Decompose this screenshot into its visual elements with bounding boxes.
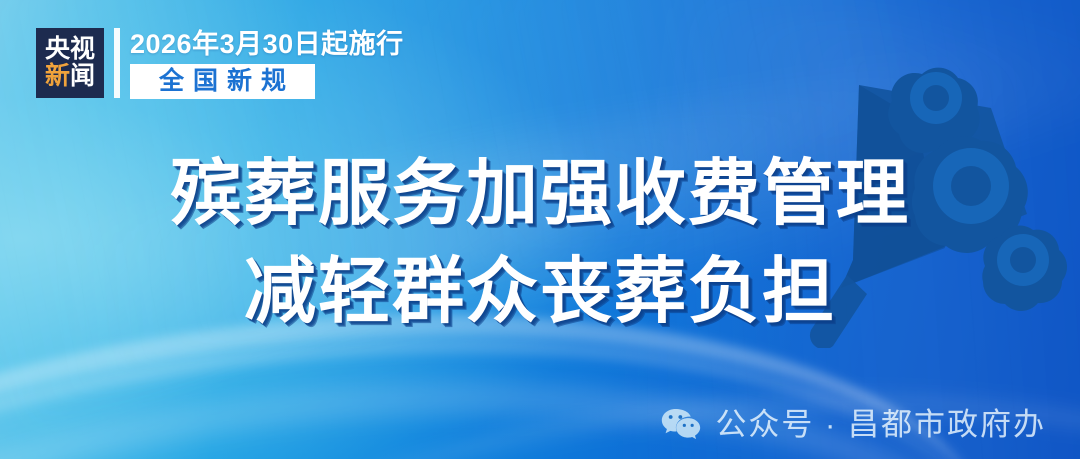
cctv-logo-line1: 央视: [45, 37, 95, 62]
flower-bottom-right: [982, 226, 1067, 311]
main-title-line-1: 殡葬服务加强收费管理: [170, 148, 910, 240]
effective-date-text: 2026年3月30日起施行: [130, 28, 404, 60]
cctv-news-logo: 央视 新 闻: [36, 28, 104, 98]
light-streak-top-right: [366, 0, 1080, 288]
main-title-block: 殡葬服务加强收费管理 减轻群众丧葬负担: [0, 148, 1080, 338]
national-new-rules-badge: 全国新规: [130, 64, 315, 99]
flower-center: [912, 136, 1028, 253]
header: 央视 新 闻 2026年3月30日起施行 全国新规: [36, 28, 404, 99]
main-title-line-2: 减轻群众丧葬负担: [244, 246, 836, 338]
flower-top-left: [888, 68, 979, 155]
national-new-rules-label: 全国新规: [150, 69, 295, 94]
flower-bouquet-icon: [795, 38, 1080, 348]
cctv-logo-char-xin: 新: [45, 64, 70, 89]
footer-account-text: 公众号 · 昌都市政府办: [715, 409, 1046, 440]
footer-account-credit: 公众号 · 昌都市政府办: [661, 407, 1046, 441]
cctv-logo-line2: 新 闻: [45, 64, 95, 89]
light-streak-right: [612, 0, 1080, 459]
header-text-group: 2026年3月30日起施行 全国新规: [130, 28, 404, 99]
cctv-logo-char-wen: 闻: [70, 64, 95, 89]
wechat-icon: [661, 407, 701, 441]
header-separator: [114, 28, 120, 98]
news-poster: 央视 新 闻 2026年3月30日起施行 全国新规 殡葬服务加强收费管理 减轻群…: [0, 0, 1080, 459]
